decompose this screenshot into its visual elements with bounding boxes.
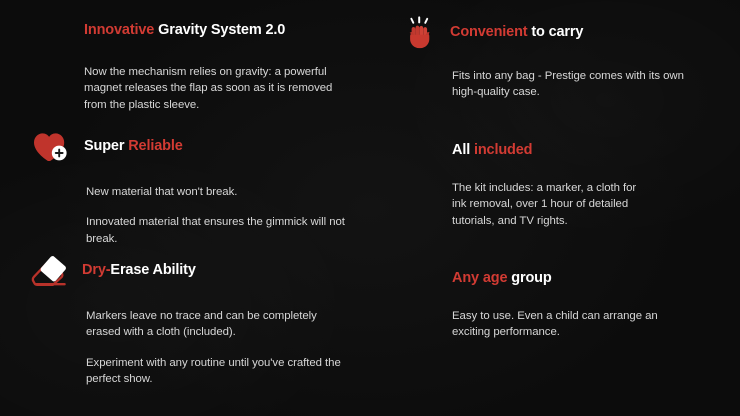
feature-paragraph: New material that won't break.	[86, 184, 366, 200]
feature-paragraph: Experiment with any routine until you've…	[86, 355, 348, 388]
feature-heading-row: Innovative Gravity System 2.0	[24, 14, 374, 48]
feature-title: Any age group	[452, 270, 552, 287]
feature-paragraph: Easy to use. Even a child can arrange an…	[452, 308, 674, 341]
feature-convenient-to-carry: Convenient to carry Fits into any bag - …	[392, 14, 722, 114]
feature-title-plain: All	[452, 142, 474, 158]
eraser-icon	[22, 252, 82, 290]
feature-heading-row: Dry-Erase Ability	[24, 252, 374, 290]
feature-title-plain: group	[507, 270, 551, 286]
raised-hand-icon	[390, 14, 450, 52]
feature-heading-row: Any age group	[392, 268, 722, 290]
feature-super-reliable: Super Reliable New material that won't b…	[24, 128, 374, 247]
feature-gravity-system: Innovative Gravity System 2.0 Now the me…	[24, 14, 374, 114]
feature-title: Super Reliable	[84, 138, 183, 155]
feature-title-accent: Innovative	[84, 22, 154, 38]
feature-title-accent: Any age	[452, 270, 507, 286]
feature-title: All included	[452, 142, 532, 159]
feature-grid: Innovative Gravity System 2.0 Now the me…	[0, 0, 740, 416]
feature-slide: Innovative Gravity System 2.0 Now the me…	[0, 0, 740, 416]
feature-paragraph: Now the mechanism relies on gravity: a p…	[24, 64, 352, 113]
feature-paragraph: The kit includes: a marker, a cloth for …	[452, 180, 652, 229]
feature-title-plain: Super	[84, 138, 128, 154]
feature-paragraph: Markers leave no trace and can be comple…	[86, 308, 344, 341]
feature-title-accent: included	[474, 142, 532, 158]
feature-paragraph: Innovated material that ensures the gimm…	[86, 214, 354, 247]
feature-title: Convenient to carry	[450, 24, 583, 41]
feature-heading-row: All included	[392, 140, 722, 162]
heart-plus-icon	[22, 128, 82, 166]
feature-title-plain: Gravity System 2.0	[154, 22, 285, 38]
feature-title-plain: to carry	[527, 24, 583, 40]
feature-heading-row: Super Reliable	[24, 128, 374, 166]
feature-heading-row: Convenient to carry	[392, 14, 722, 52]
feature-title-accent: Reliable	[128, 138, 182, 154]
feature-title-accent: Dry-	[82, 262, 110, 278]
feature-title: Innovative Gravity System 2.0	[84, 22, 285, 39]
feature-all-included: All included The kit includes: a marker,…	[392, 140, 722, 240]
feature-title-accent: Convenient	[450, 24, 527, 40]
feature-any-age-group: Any age group Easy to use. Even a child …	[392, 268, 722, 368]
feature-title: Dry-Erase Ability	[82, 262, 196, 279]
feature-dry-erase-ability: Dry-Erase Ability Markers leave no trace…	[24, 252, 374, 388]
feature-title-plain: Erase Ability	[110, 262, 195, 278]
feature-paragraph: Fits into any bag - Prestige comes with …	[452, 68, 698, 101]
